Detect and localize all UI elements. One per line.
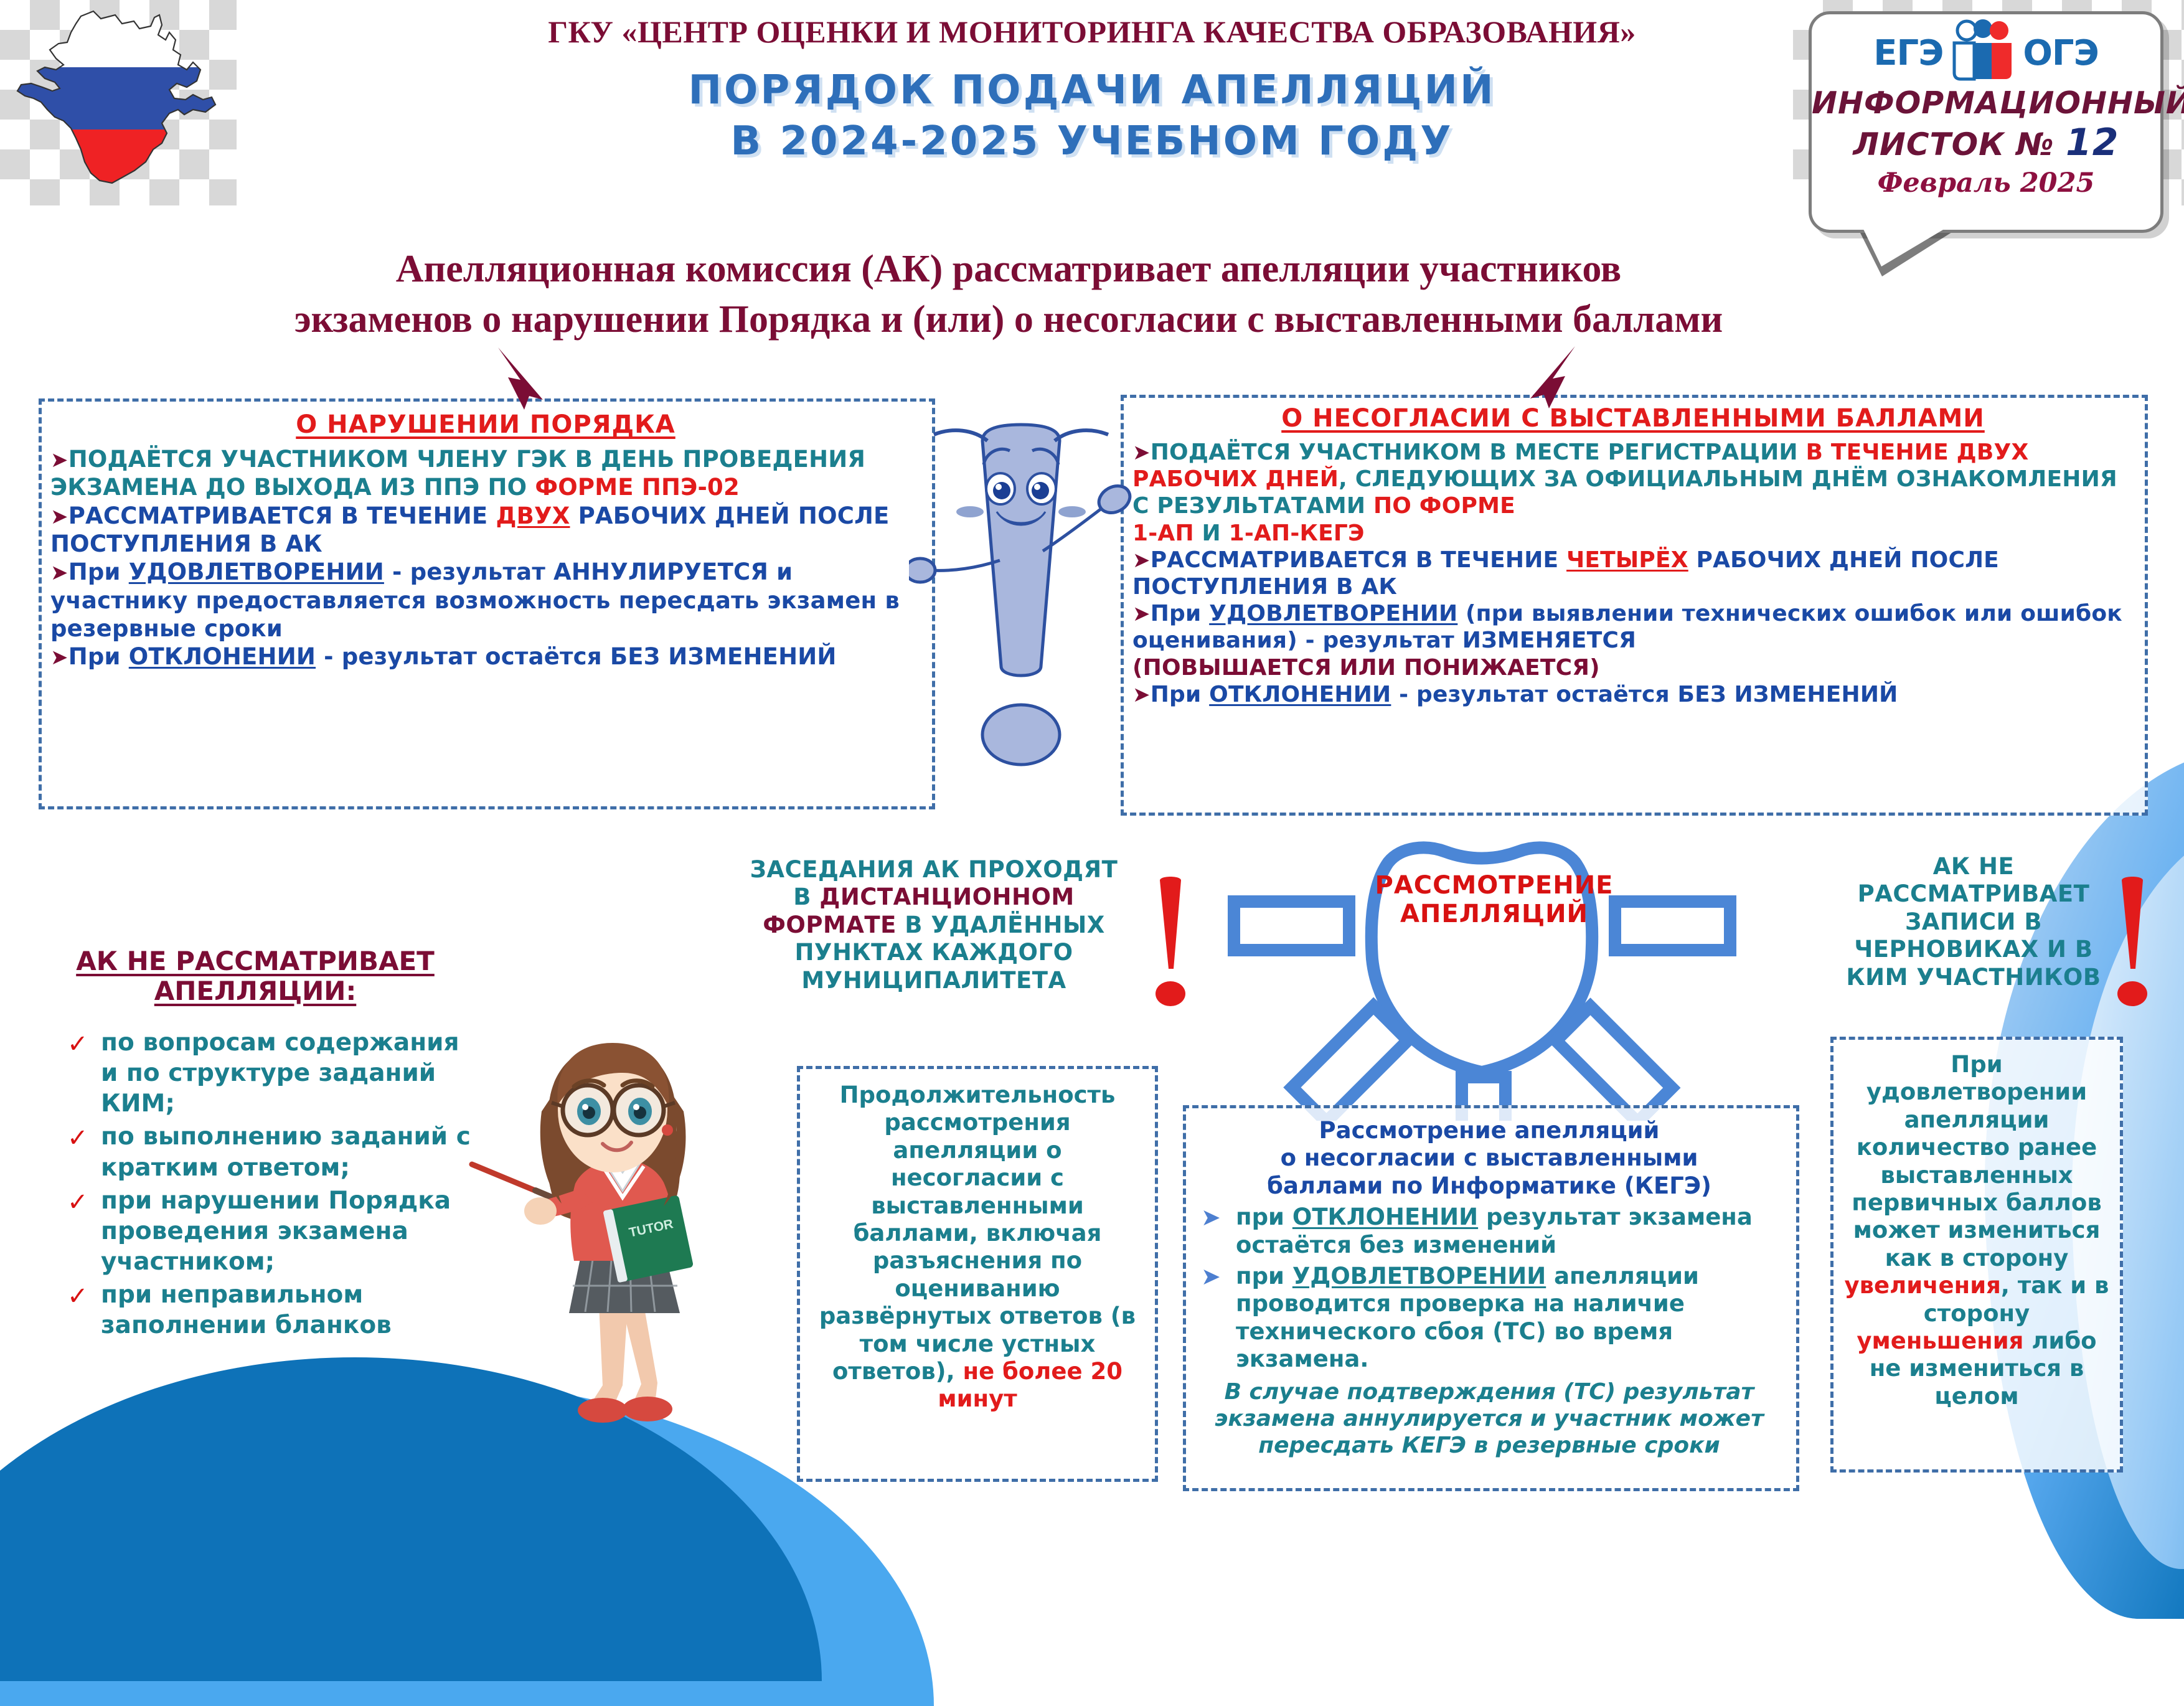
arrow-to-score-box — [1488, 341, 1588, 419]
badge-line-sheet-number: ЛИСТОК № 12 — [1812, 122, 2160, 164]
kege-box-title-line2: о несогласии с выставленными — [1192, 1144, 1786, 1172]
violation-item-1: ➤ПОДАЁТСЯ УЧАСТНИКОМ ЧЛЕНУ ГЭК В ДЕНЬ ПР… — [50, 445, 921, 502]
list-item: ✓при нарушении Порядка проведения экзаме… — [62, 1185, 473, 1277]
kege-note: В случае подтверждения (ТС) результат эк… — [1192, 1378, 1786, 1459]
drafts-not-considered-note: АК НЕ РАССМАТРИВАЕТ ЗАПИСИ В ЧЕРНОВИКАХ … — [1837, 853, 2111, 991]
score-item-2: ➤РАССМАТРИВАЕТСЯ В ТЕЧЕНИЕ ЧЕТЫРЁХ РАБОЧ… — [1132, 547, 2134, 600]
list-item-label: по выполнению заданий с кратким ответом; — [101, 1123, 471, 1181]
red-exclamation-right-icon — [2111, 877, 2154, 1023]
check-icon: ✓ — [67, 1123, 88, 1154]
red-exclamation-left-icon — [1149, 877, 1192, 1023]
list-item-label: при нарушении Порядка проведения экзамен… — [101, 1187, 451, 1276]
score-change-box: При удовлетворении апелляции количество … — [1830, 1037, 2123, 1473]
score-item-1-forms: 1-АП И 1-АП-КЕГЭ — [1132, 520, 2134, 547]
violation-appeal-box: О НАРУШЕНИИ ПОРЯДКА ➤ПОДАЁТСЯ УЧАСТНИКОМ… — [39, 398, 935, 809]
chevron-bullet-icon: ➤ — [50, 645, 68, 670]
badge-date: Февраль 2025 — [1812, 167, 2160, 199]
list-item-label: по вопросам содержания и по структуре за… — [101, 1029, 459, 1118]
ak-heading-line1: АК НЕ РАССМАТРИВАЕТ — [62, 946, 448, 976]
appeal-duration-box: Продолжительность рассмотрения апелляции… — [797, 1066, 1158, 1482]
magnifier-label-line2: АПЕЛЛЯЦИЙ — [1363, 900, 1625, 929]
information-sheet-badge: ЕГЭ ОГЭ ИНФОРМАЦИОННЫЙ ЛИСТОК № 12 Февра… — [1809, 11, 2163, 233]
teacher-girl-mascot-icon: TUTOR — [436, 1037, 784, 1429]
score-box-heading: О НЕСОГЛАСИИ С ВЫСТАВЛЕННЫМИ БАЛЛАМИ — [1132, 404, 2134, 433]
check-icon: ✓ — [67, 1281, 88, 1312]
chevron-bullet-icon: ➤ — [1132, 601, 1151, 626]
list-item: ✓по выполнению заданий с кратким ответом… — [62, 1121, 473, 1182]
badge-tail-fill — [1863, 228, 1946, 266]
oge-logo-text: ОГЭ — [2023, 33, 2098, 73]
kege-item-1: ➤при ОТКЛОНЕНИИ результат экзамена остаё… — [1192, 1204, 1786, 1259]
chevron-bullet-icon: ➤ — [1132, 440, 1151, 465]
list-item-label: при неправильном заполнении бланков — [101, 1281, 392, 1339]
check-icon: ✓ — [67, 1187, 88, 1218]
appeal-duration-text: Продолжительность рассмотрения апелляции… — [814, 1082, 1141, 1413]
score-disagreement-box: О НЕСОГЛАСИИ С ВЫСТАВЛЕННЫМИ БАЛЛАМИ ➤ПО… — [1121, 395, 2148, 816]
kege-appeal-box: Рассмотрение апелляций о несогласии с вы… — [1183, 1105, 1799, 1491]
kege-box-title-line3: баллами по Информатике (КЕГЭ) — [1192, 1172, 1786, 1200]
violation-item-3: ➤При УДОВЛЕТВОРЕНИИ - результат АННУЛИРУ… — [50, 558, 921, 643]
kege-box-title-line1: Рассмотрение апелляций — [1192, 1117, 1786, 1144]
chevron-bullet-icon: ➤ — [50, 448, 68, 473]
chevron-bullet-icon: ➤ — [50, 560, 68, 585]
remote-sessions-note: ЗАСЕДАНИЯ АК ПРОХОДЯТ В ДИСТАНЦИОННОМ ФО… — [741, 856, 1127, 994]
list-item: ✓по вопросам содержания и по структуре з… — [62, 1027, 473, 1119]
score-item-4: ➤При ОТКЛОНЕНИИ - результат остаётся БЕЗ… — [1132, 681, 2134, 708]
score-item-3-paren: (ПОВЫШАЕТСЯ ИЛИ ПОНИЖАЕТСЯ) — [1132, 654, 2134, 681]
ak-not-considering-list: ✓по вопросам содержания и по структуре з… — [62, 1027, 473, 1343]
subtitle-line2: экзаменов о нарушении Порядка и (или) о … — [75, 295, 1942, 345]
chevron-bullet-icon: ➤ — [1132, 682, 1151, 707]
ege-oge-logo-icon: ЕГЭ ОГЭ — [1812, 18, 2160, 88]
arrow-to-violation-box — [486, 342, 585, 420]
subtitle-line1: Апелляционная комиссия (АК) рассматривае… — [75, 244, 1942, 295]
chevron-bullet-icon: ➤ — [1132, 548, 1151, 573]
violation-item-2: ➤РАССМАТРИВАЕТСЯ В ТЕЧЕНИЕ ДВУХ РАБОЧИХ … — [50, 502, 921, 558]
badge-sheet-number: 12 — [2066, 121, 2119, 164]
list-item: ✓при неправильном заполнении бланков — [62, 1279, 473, 1341]
ak-heading-line2: АПЕЛЛЯЦИИ: — [62, 976, 448, 1006]
magnifier-label: РАССМОТРЕНИЕ АПЕЛЛЯЦИЙ — [1363, 872, 1625, 928]
ak-not-considering-heading: АК НЕ РАССМАТРИВАЕТ АПЕЛЛЯЦИИ: — [62, 946, 448, 1006]
exclamation-mascot-icon — [909, 405, 1133, 809]
score-item-1: ➤ПОДАЁТСЯ УЧАСТНИКОМ В МЕСТЕ РЕГИСТРАЦИИ… — [1132, 439, 2134, 520]
kege-item-2: ➤при УДОВЛЕТВОРЕНИИ апелляции проводится… — [1192, 1263, 1786, 1374]
violation-item-4: ➤При ОТКЛОНЕНИИ - результат остаётся БЕЗ… — [50, 643, 921, 671]
chevron-bullet-icon: ➤ — [1201, 1204, 1221, 1232]
magnifier-label-line1: РАССМОТРЕНИЕ — [1363, 872, 1625, 900]
badge-line-informational: ИНФОРМАЦИОННЫЙ — [1812, 88, 2160, 120]
chevron-bullet-icon: ➤ — [1201, 1263, 1221, 1291]
badge-sheet-prefix: ЛИСТОК № — [1853, 126, 2066, 163]
ege-logo-text: ЕГЭ — [1873, 33, 1943, 73]
score-item-3: ➤При УДОВЛЕТВОРЕНИИ (при выявлении техни… — [1132, 600, 2134, 654]
ege-oge-figures-icon — [1946, 18, 2020, 88]
chevron-bullet-icon: ➤ — [50, 504, 68, 529]
subtitle-text: Апелляционная комиссия (АК) рассматривае… — [75, 244, 1942, 344]
check-icon: ✓ — [67, 1029, 88, 1060]
score-change-text: При удовлетворении апелляции количество … — [1843, 1051, 2110, 1410]
